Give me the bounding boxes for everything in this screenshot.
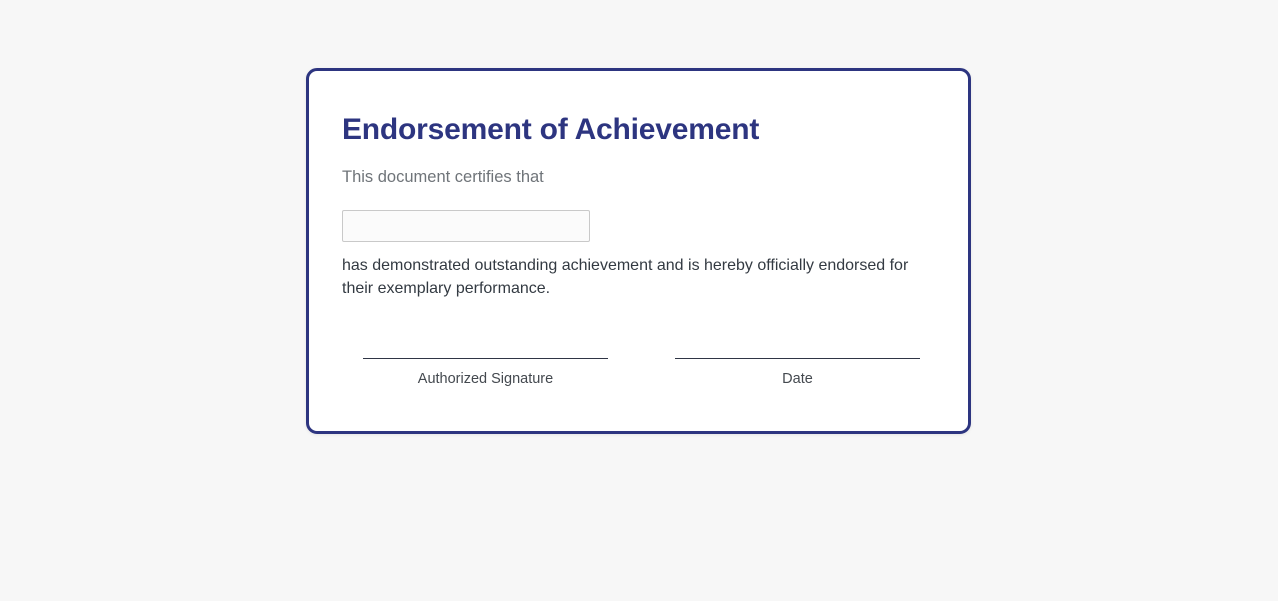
certificate-content: Endorsement of Achievement This document… <box>309 71 968 388</box>
signature-label: Authorized Signature <box>363 359 608 388</box>
certificate-body-text: has demonstrated outstanding achievement… <box>342 242 936 299</box>
date-label: Date <box>675 359 920 388</box>
certificate-subtitle: This document certifies that <box>342 146 936 188</box>
certificate-card: Endorsement of Achievement This document… <box>306 68 971 434</box>
signature-block-date: Date <box>675 358 920 388</box>
recipient-name-input[interactable] <box>342 210 590 242</box>
signature-row: Authorized Signature Date <box>342 300 936 388</box>
signature-block-authorized: Authorized Signature <box>363 358 608 388</box>
page-title: Endorsement of Achievement <box>342 103 936 146</box>
